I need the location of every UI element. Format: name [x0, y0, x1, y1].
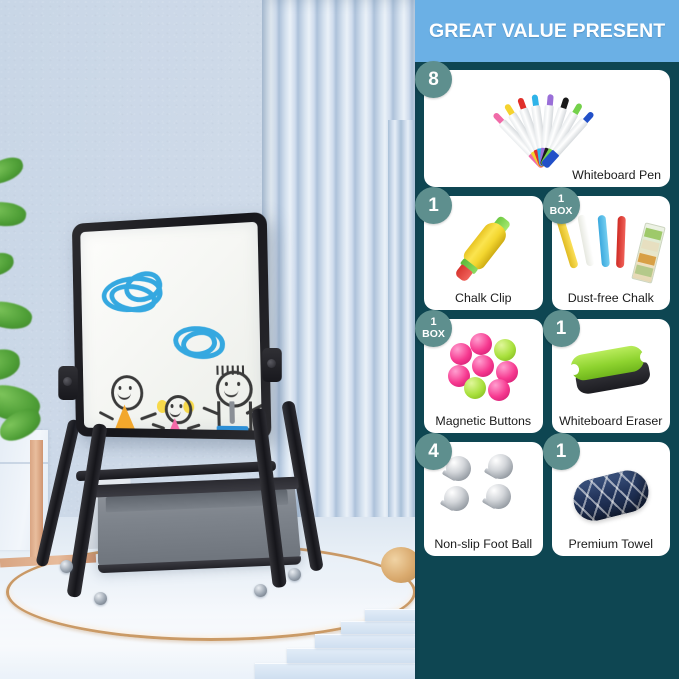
accessory-label: Whiteboard Eraser — [552, 414, 671, 428]
whiteboard-surface — [80, 222, 262, 431]
magnet — [472, 355, 494, 377]
quantity-badge: 1 — [543, 310, 580, 347]
chalk-stick — [577, 214, 595, 267]
badge-number: 1 — [428, 196, 439, 215]
child-family-drawing — [80, 222, 262, 431]
step — [315, 634, 415, 648]
premium-towel-icon — [569, 466, 653, 525]
panel-body: Whiteboard Pen 8 Chalk Clip — [415, 62, 679, 679]
magnetic-buttons-icon — [442, 333, 524, 399]
step — [365, 609, 415, 621]
figure-shorts — [217, 426, 249, 431]
badge-number: 4 — [428, 442, 439, 461]
magnet — [488, 379, 510, 401]
plant-leaf — [0, 199, 27, 229]
accessory-card-dust-free-chalk: Dust-free Chalk 1 BOX — [552, 196, 671, 310]
step — [341, 621, 415, 634]
chalk-stick — [556, 217, 579, 269]
knob-dot — [63, 377, 72, 386]
badge-number: 8 — [428, 70, 439, 89]
magnet — [494, 339, 516, 361]
plant-leaf — [0, 348, 21, 383]
plant-leaf — [0, 296, 34, 334]
accessory-label: Chalk Clip — [424, 291, 543, 305]
accessory-label: Premium Towel — [552, 537, 671, 551]
decorative-gold-disc — [381, 547, 415, 583]
accessory-card-whiteboard-pen: Whiteboard Pen 8 — [424, 70, 670, 187]
accessory-card-whiteboard-eraser: Whiteboard Eraser 1 — [552, 319, 671, 433]
badge-number: 1 — [556, 442, 567, 461]
badge-unit: BOX — [422, 329, 445, 340]
quantity-badge: 4 — [415, 433, 452, 470]
accessory-label: Magnetic Buttons — [424, 414, 543, 428]
chalk-box — [631, 222, 665, 283]
plant-leaf — [0, 251, 16, 280]
accessory-card-chalk-clip: Chalk Clip 1 — [424, 196, 543, 310]
foot-ball — [482, 484, 512, 518]
chalk-stick — [616, 216, 626, 268]
accessory-label: Whiteboard Pen — [572, 168, 670, 182]
foot-ball — [484, 454, 514, 488]
figure-tie — [229, 401, 235, 424]
board-knob-right — [262, 348, 281, 382]
badge-unit: BOX — [550, 206, 573, 217]
art-easel — [38, 218, 328, 618]
figure-eye — [237, 382, 240, 386]
accessory-card-non-slip-foot-ball: Non-slip Foot Ball 4 — [424, 442, 543, 556]
panel-title: GREAT VALUE PRESENT — [415, 20, 665, 43]
chalk-clip-icon — [451, 212, 515, 285]
caster-wheel — [94, 592, 107, 605]
foot-ball — [440, 486, 470, 520]
panel-header: GREAT VALUE PRESENT — [415, 0, 679, 62]
whiteboard-pen-icon — [469, 86, 619, 166]
magnet — [470, 333, 492, 355]
caster-wheel — [60, 560, 73, 573]
lifestyle-photo — [0, 0, 415, 679]
accessory-label: Dust-free Chalk — [552, 291, 671, 305]
product-image: GREAT VALUE PRESENT — [0, 0, 679, 679]
non-slip-foot-ball-icon — [438, 454, 528, 524]
figure-eye — [129, 386, 132, 390]
caster-wheel — [288, 568, 301, 581]
figure-arm — [140, 412, 157, 421]
figure-arm — [187, 423, 201, 430]
whiteboard-eraser-icon — [569, 343, 653, 400]
figure-dress — [162, 418, 188, 431]
plant-leaf — [0, 154, 26, 188]
chalk-stick — [597, 215, 610, 267]
dust-free-chalk-icon — [561, 210, 661, 282]
knob-dot — [267, 359, 276, 368]
whiteboard-frame — [72, 212, 272, 440]
magnet — [464, 377, 486, 399]
accessory-label: Non-slip Foot Ball — [424, 537, 543, 551]
quantity-badge: 1 BOX — [415, 310, 452, 347]
accessory-row: Chalk Clip 1 — [424, 196, 670, 310]
badge-number: 1 — [556, 319, 567, 338]
step — [287, 648, 415, 663]
board-knob-left — [58, 366, 77, 400]
accessory-row: Non-slip Foot Ball 4 Premium Towel — [424, 442, 670, 556]
step — [255, 663, 415, 679]
window-blinds-secondary — [388, 120, 415, 530]
accessory-row: Whiteboard Pen 8 — [424, 70, 670, 187]
figure-eye — [225, 382, 228, 386]
accessory-card-magnetic-buttons: Magnetic Buttons 1 BOX — [424, 319, 543, 433]
quantity-badge: 1 — [543, 433, 580, 470]
quantity-badge: 1 — [415, 187, 452, 224]
card-content: Whiteboard Pen — [424, 70, 670, 187]
figure-eye — [118, 386, 121, 390]
quantity-badge: 1 BOX — [543, 187, 580, 224]
accessory-card-premium-towel: Premium Towel 1 — [552, 442, 671, 556]
caster-wheel — [254, 584, 267, 597]
accessory-row: Magnetic Buttons 1 BOX — [424, 319, 670, 433]
magnet — [450, 343, 472, 365]
quantity-badge: 8 — [415, 61, 452, 98]
accessories-panel: GREAT VALUE PRESENT — [415, 0, 679, 679]
